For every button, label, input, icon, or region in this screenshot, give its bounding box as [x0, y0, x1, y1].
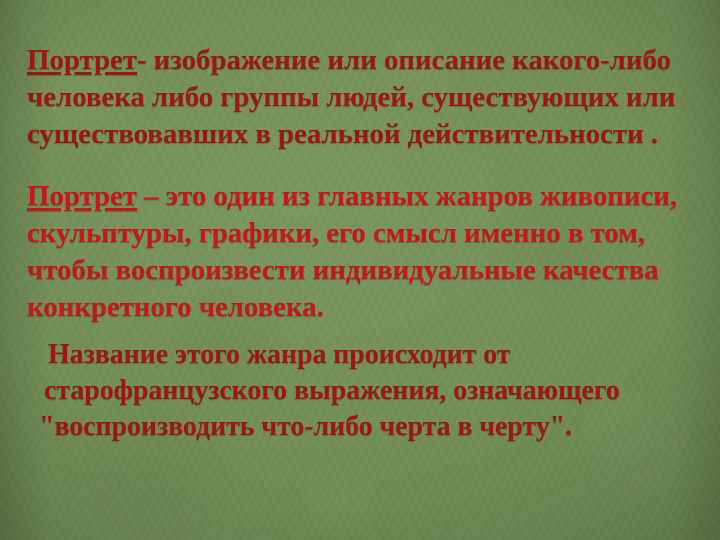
text-line: конкретного человека. — [27, 289, 677, 326]
keyword-portrait: Портрет — [27, 180, 137, 212]
slide-canvas: Портрет- изображение или описание какого… — [0, 0, 720, 540]
slide-content: Портрет- изображение или описание какого… — [0, 0, 720, 540]
paragraph-definition-two: Портрет – это один из главных жанров жив… — [27, 178, 677, 326]
text-line: "воспроизводить что-либо черта в черту". — [39, 409, 620, 445]
text-line-remainder: - изображение или описание какого-либо — [137, 44, 671, 76]
paragraph-etymology: Название этого жанра происходит от старо… — [39, 337, 620, 445]
text-line: человека либо группы людей, существующих… — [27, 79, 675, 116]
text-line-remainder: – это один из главных жанров живописи, — [137, 180, 677, 212]
text-line: Портрет- изображение или описание какого… — [27, 42, 675, 79]
paragraph-definition-one: Портрет- изображение или описание какого… — [27, 42, 675, 153]
text-line: Портрет – это один из главных жанров жив… — [27, 178, 677, 215]
text-line: Название этого жанра происходит от — [39, 337, 620, 373]
text-line: скульптуры, графики, его смысл именно в … — [27, 215, 677, 252]
keyword-portrait: Портрет — [27, 44, 137, 76]
text-line: существовавших в реальной действительнос… — [27, 116, 675, 153]
text-line: старофранцузского выражения, означающего — [39, 373, 620, 409]
text-line: чтобы воспроизвести индивидуальные качес… — [27, 252, 677, 289]
